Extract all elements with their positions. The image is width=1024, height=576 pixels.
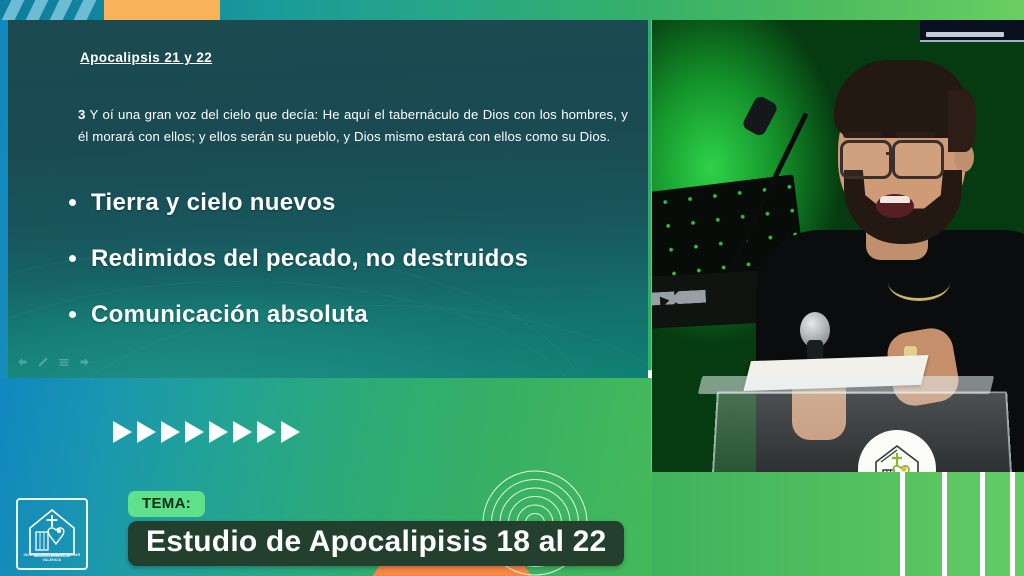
stripe-decor [900,472,905,576]
arrow-marker-icon [185,421,204,443]
slide-scripture-reference: Apocalipsis 21 y 22 [80,50,212,65]
verse-body: Y oí una gran voz del cielo que decía: H… [78,107,628,144]
sermon-title: Estudio de Apocalipisis 18 al 22 [146,526,606,558]
stripe-decor [1010,472,1015,576]
tema-badge: TEMA: [128,491,205,517]
arrow-marker-icon [161,421,180,443]
church-logo-text: IGLESIA CRISTIANA EL HOGAR VALENCIA [16,553,88,563]
neck-chain [888,264,950,301]
sermon-title-box: Estudio de Apocalipisis 18 al 22 [128,521,624,566]
arrow-marker-icon [257,421,276,443]
top-decor-strip [0,0,1024,20]
arrow-marker-icon [113,421,132,443]
eyeglasses-right-lens [892,140,944,179]
speaker-mouth [876,194,914,218]
church-brand-logo: IGLESIA CRISTIANA EL HOGAR VALENCIA [16,498,88,570]
next-slide-icon[interactable] [79,356,91,368]
pen-tool-icon[interactable] [37,356,49,368]
bottom-right-green-panel [652,472,1024,576]
arrow-marker-icon [137,421,156,443]
arrow-marker-icon [233,421,252,443]
camera-feed[interactable] [652,12,1024,472]
presentation-slide[interactable]: Apocalipsis 21 y 22 3 Y oí una gran voz … [8,19,648,378]
stripe-decor [942,472,947,576]
speaker-sideburn [948,90,976,152]
church-logo-line2: VALENCIA [16,558,88,563]
slide-bullet-item: Comunicación absoluta [63,301,643,329]
verse-number: 3 [78,107,85,122]
stream-canvas: Apocalipsis 21 y 22 3 Y oí una gran voz … [0,0,1024,576]
arrow-strip-decor [113,421,300,443]
stripe-decor [980,472,985,576]
speaker-brow-left [843,132,883,138]
presenter-controls[interactable] [16,356,91,368]
eyeglasses-bridge [886,152,894,155]
keyboard-equipment [652,271,761,329]
slide-menu-icon[interactable] [58,356,70,368]
slide-bullet-list: Tierra y cielo nuevosRedimidos del pecad… [63,189,643,357]
previous-slide-icon[interactable] [16,356,28,368]
arrow-marker-icon [281,421,300,443]
top-strip-orange-block [104,0,220,20]
eyeglasses-left-lens [840,140,892,179]
slide-bullet-item: Tierra y cielo nuevos [63,189,643,217]
slide-verse-text: 3 Y oí una gran voz del cielo que decía:… [78,104,628,147]
arrow-marker-icon [209,421,228,443]
speaker-brow-right [895,132,935,138]
slide-bullet-item: Redimidos del pecado, no destruidos [63,245,643,273]
